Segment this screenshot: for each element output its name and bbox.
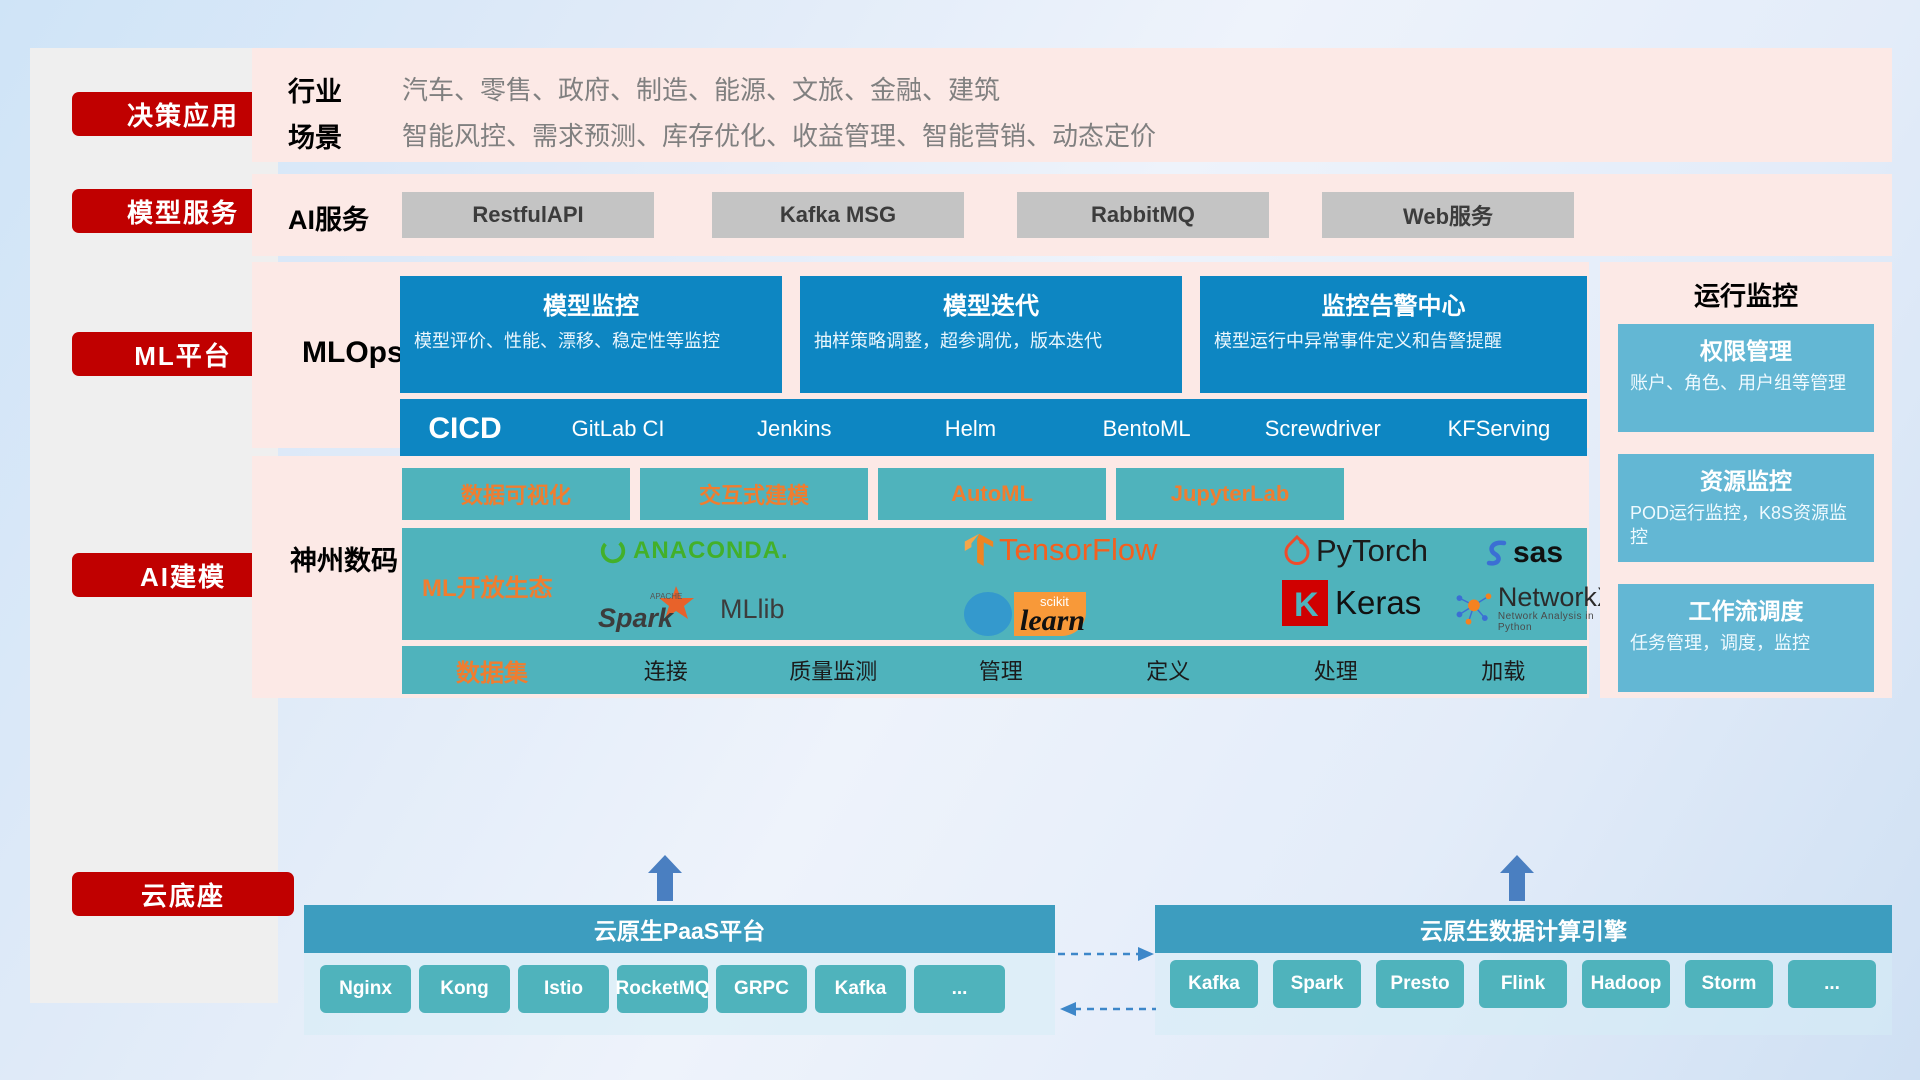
- pytorch-label: PyTorch: [1316, 533, 1428, 569]
- paas-component-rocketmq[interactable]: RocketMQ: [617, 965, 708, 1013]
- card-desc: 任务管理，调度，监控: [1630, 631, 1862, 655]
- card-desc: 账户、角色、用户组等管理: [1630, 371, 1862, 395]
- monitoring-card-resource[interactable]: 资源监控 POD运行监控，K8S资源监控: [1618, 454, 1874, 562]
- engine-component-more[interactable]: ...: [1788, 960, 1876, 1008]
- engine-header: 云原生数据计算引擎: [1155, 905, 1892, 953]
- scene-value: 智能风控、需求预测、库存优化、收益管理、智能营销、动态定价: [402, 116, 1156, 153]
- dashed-arrow-right: [1058, 945, 1156, 968]
- pytorch-logo: PyTorch: [1282, 533, 1428, 569]
- dashed-arrow-left: [1058, 1000, 1156, 1023]
- spark-mllib-logo: APACHE Spark MLlib: [598, 586, 785, 632]
- engine-component-hadoop[interactable]: Hadoop: [1582, 960, 1670, 1008]
- mlops-band: MLOps 模型监控 模型评价、性能、漂移、稳定性等监控 模型迭代 抽样策略调整…: [252, 262, 1589, 448]
- networkx-logo: NetworkX Network Analysis in Python: [1454, 584, 1619, 633]
- dataset-item-process[interactable]: 处理: [1252, 654, 1420, 686]
- card-desc: 模型评价、性能、漂移、稳定性等监控: [414, 329, 768, 353]
- paas-title: 云原生PaaS平台: [594, 912, 765, 946]
- dataset-item-manage[interactable]: 管理: [917, 654, 1085, 686]
- card-title: 资源监控: [1630, 462, 1862, 496]
- monitoring-band: 运行监控 权限管理 账户、角色、用户组等管理 资源监控 POD运行监控，K8S资…: [1600, 262, 1892, 698]
- card-desc: 模型运行中异常事件定义和告警提醒: [1214, 329, 1573, 353]
- card-title: 模型迭代: [814, 286, 1168, 321]
- ai-service-chip-restfulapi[interactable]: RestfulAPI: [402, 192, 654, 238]
- cicd-item-screwdriver[interactable]: Screwdriver: [1235, 417, 1411, 440]
- cicd-item-gitlab-ci[interactable]: GitLab CI: [530, 417, 706, 440]
- ai-service-label: AI服务: [288, 198, 369, 237]
- cicd-item-bentoml[interactable]: BentoML: [1059, 417, 1235, 440]
- mlops-card-model-monitoring[interactable]: 模型监控 模型评价、性能、漂移、稳定性等监控: [400, 276, 782, 393]
- stage-label: ML平台: [134, 336, 232, 373]
- svg-text:Spark: Spark: [598, 603, 675, 632]
- engine-component-storm[interactable]: Storm: [1685, 960, 1773, 1008]
- dataset-bar: 数据集 连接 质量监测 管理 定义 处理 加载: [402, 646, 1587, 694]
- paas-component-grpc[interactable]: GRPC: [716, 965, 807, 1013]
- mlops-card-alert-center[interactable]: 监控告警中心 模型运行中异常事件定义和告警提醒: [1200, 276, 1587, 393]
- dataset-item-define[interactable]: 定义: [1085, 654, 1253, 686]
- mlops-label: MLOps: [302, 336, 404, 370]
- tool-chip-data-visualization[interactable]: 数据可视化: [402, 468, 630, 520]
- stage-badge-cloud-base[interactable]: 云底座: [72, 872, 294, 916]
- paas-component-kong[interactable]: Kong: [419, 965, 510, 1013]
- paas-component-more[interactable]: ...: [914, 965, 1005, 1013]
- industry-value: 汽车、零售、政府、制造、能源、文旅、金融、建筑: [402, 70, 1000, 107]
- ai-modeling-band: 神州数码 ML LAB 数据可视化 交互式建模 AutoML JupyterLa…: [252, 456, 1589, 698]
- cicd-item-kfserving[interactable]: KFServing: [1411, 417, 1587, 440]
- dataset-title: 数据集: [402, 653, 582, 688]
- dataset-item-load[interactable]: 加载: [1420, 654, 1588, 686]
- keras-label: Keras: [1335, 584, 1421, 622]
- cicd-bar: CICD GitLab CI Jenkins Helm BentoML Scre…: [400, 399, 1587, 459]
- keras-logo: K Keras: [1282, 580, 1421, 626]
- ml-ecosystem-label: ML开放生态: [422, 568, 553, 603]
- card-title: 权限管理: [1630, 332, 1862, 366]
- stage-rail: 决策应用 模型服务 ML平台 AI建模 云底座: [30, 48, 278, 1003]
- applications-band: 行业 汽车、零售、政府、制造、能源、文旅、金融、建筑 场景 智能风控、需求预测、…: [252, 48, 1892, 162]
- industry-label: 行业: [288, 70, 342, 109]
- stage-label: 模型服务: [127, 193, 239, 230]
- scikit-learn-logo: scikit learn: [962, 580, 1102, 638]
- paas-component-kafka[interactable]: Kafka: [815, 965, 906, 1013]
- ml-ecosystem-panel: ML开放生态 ANACONDA. TensorFlow PyTorch: [402, 528, 1587, 640]
- dataset-item-connect[interactable]: 连接: [582, 654, 750, 686]
- monitoring-card-workflow[interactable]: 工作流调度 任务管理，调度，监控: [1618, 584, 1874, 692]
- tensorflow-label: TensorFlow: [999, 532, 1158, 568]
- card-title: 工作流调度: [1630, 592, 1862, 626]
- ai-service-chip-kafka-msg[interactable]: Kafka MSG: [712, 192, 964, 238]
- cicd-item-helm[interactable]: Helm: [882, 417, 1058, 440]
- cicd-title: CICD: [400, 412, 530, 446]
- cicd-item-jenkins[interactable]: Jenkins: [706, 417, 882, 440]
- tensorflow-logo: TensorFlow: [962, 532, 1158, 568]
- ai-service-band: AI服务 RestfulAPI Kafka MSG RabbitMQ Web服务: [252, 174, 1892, 256]
- stage-label: AI建模: [140, 557, 226, 594]
- card-desc: 抽样策略调整，超参调优，版本迭代: [814, 329, 1168, 353]
- monitoring-card-permission[interactable]: 权限管理 账户、角色、用户组等管理: [1618, 324, 1874, 432]
- paas-component-nginx[interactable]: Nginx: [320, 965, 411, 1013]
- paas-component-istio[interactable]: Istio: [518, 965, 609, 1013]
- dataset-item-quality[interactable]: 质量监测: [750, 654, 918, 686]
- up-arrow-paas: [648, 855, 682, 901]
- svg-text:learn: learn: [1020, 604, 1085, 637]
- sas-logo: sas: [1482, 536, 1563, 570]
- tool-chip-automl[interactable]: AutoML: [878, 468, 1106, 520]
- anaconda-logo: ANACONDA.: [598, 536, 789, 566]
- svg-text:K: K: [1294, 586, 1319, 624]
- engine-component-kafka[interactable]: Kafka: [1170, 960, 1258, 1008]
- mllib-label: MLlib: [720, 594, 785, 625]
- paas-header: 云原生PaaS平台: [304, 905, 1055, 953]
- ai-service-chip-rabbitmq[interactable]: RabbitMQ: [1017, 192, 1269, 238]
- card-desc: POD运行监控，K8S资源监控: [1630, 501, 1862, 550]
- anaconda-label: ANACONDA.: [633, 537, 789, 565]
- tool-chip-jupyterlab[interactable]: JupyterLab: [1116, 468, 1344, 520]
- scene-label: 场景: [288, 116, 342, 155]
- mlops-card-model-iteration[interactable]: 模型迭代 抽样策略调整，超参调优，版本迭代: [800, 276, 1182, 393]
- tool-chip-interactive-modeling[interactable]: 交互式建模: [640, 468, 868, 520]
- svg-text:APACHE: APACHE: [650, 592, 682, 601]
- ai-service-chip-web-service[interactable]: Web服务: [1322, 192, 1574, 238]
- sas-label: sas: [1513, 536, 1563, 570]
- engine-title: 云原生数据计算引擎: [1420, 912, 1627, 946]
- stage-label: 决策应用: [127, 96, 239, 133]
- engine-component-spark[interactable]: Spark: [1273, 960, 1361, 1008]
- up-arrow-engine: [1500, 855, 1534, 901]
- engine-component-presto[interactable]: Presto: [1376, 960, 1464, 1008]
- stage-label: 云底座: [141, 876, 225, 913]
- card-title: 模型监控: [414, 286, 768, 321]
- card-title: 监控告警中心: [1214, 286, 1573, 321]
- engine-component-flink[interactable]: Flink: [1479, 960, 1567, 1008]
- monitoring-title: 运行监控: [1600, 276, 1892, 313]
